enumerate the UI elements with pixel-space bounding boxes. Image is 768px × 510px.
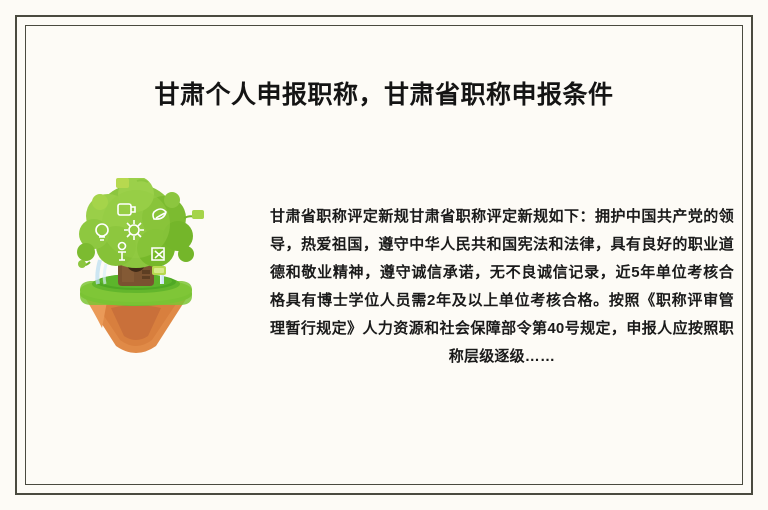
- page-title: 甘肃个人申报职称，甘肃省职称申报条件: [0, 78, 768, 112]
- tree-canopy-icon: [77, 178, 194, 268]
- page-root: 甘肃个人申报职称，甘肃省职称申报条件: [0, 0, 768, 510]
- eco-island-illustration: [56, 178, 216, 358]
- article-body: 甘肃省职称评定新规甘肃省职称评定新规如下：拥护中国共产党的领导，热爱祖国，遵守中…: [270, 203, 734, 371]
